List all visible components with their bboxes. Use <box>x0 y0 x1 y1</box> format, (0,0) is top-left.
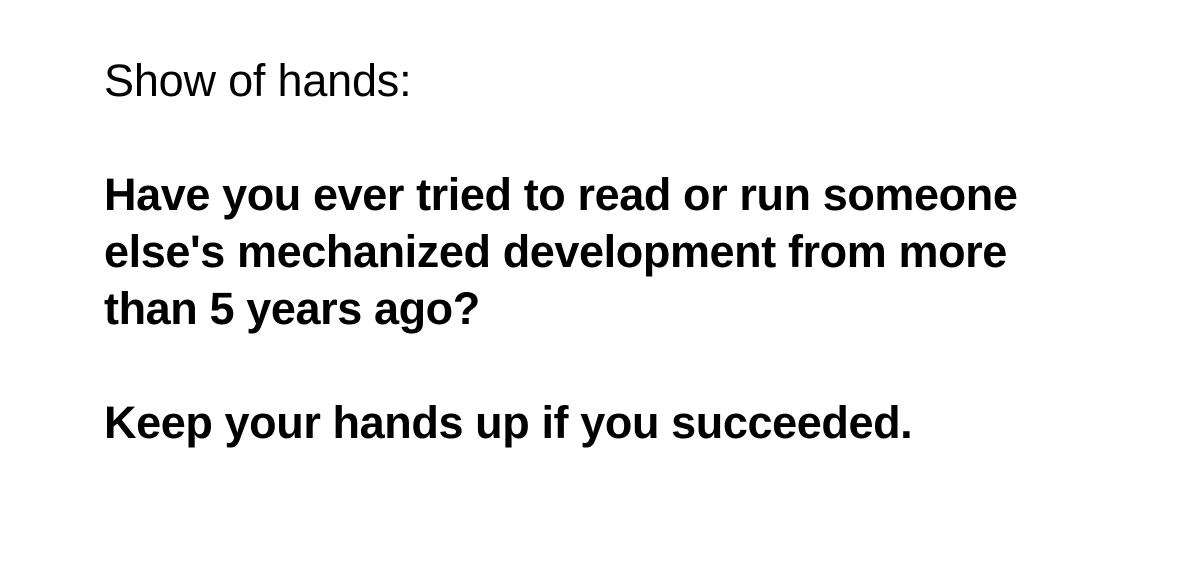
question-line-3: than 5 years ago? <box>104 280 1104 337</box>
question-line-2: else's mechanized development from more <box>104 223 1104 280</box>
paragraph-spacer-1 <box>104 109 1104 166</box>
slide-text-block: Show of hands: Have you ever tried to re… <box>104 52 1104 451</box>
paragraph-spacer-2 <box>104 337 1104 394</box>
slide-canvas: Show of hands: Have you ever tried to re… <box>0 0 1179 571</box>
question-line-1: Have you ever tried to read or run someo… <box>104 166 1104 223</box>
question-paragraph: Have you ever tried to read or run someo… <box>104 166 1104 337</box>
closing-statement-line: Keep your hands up if you succeeded. <box>104 394 1104 451</box>
lead-prompt-line: Show of hands: <box>104 52 1104 109</box>
